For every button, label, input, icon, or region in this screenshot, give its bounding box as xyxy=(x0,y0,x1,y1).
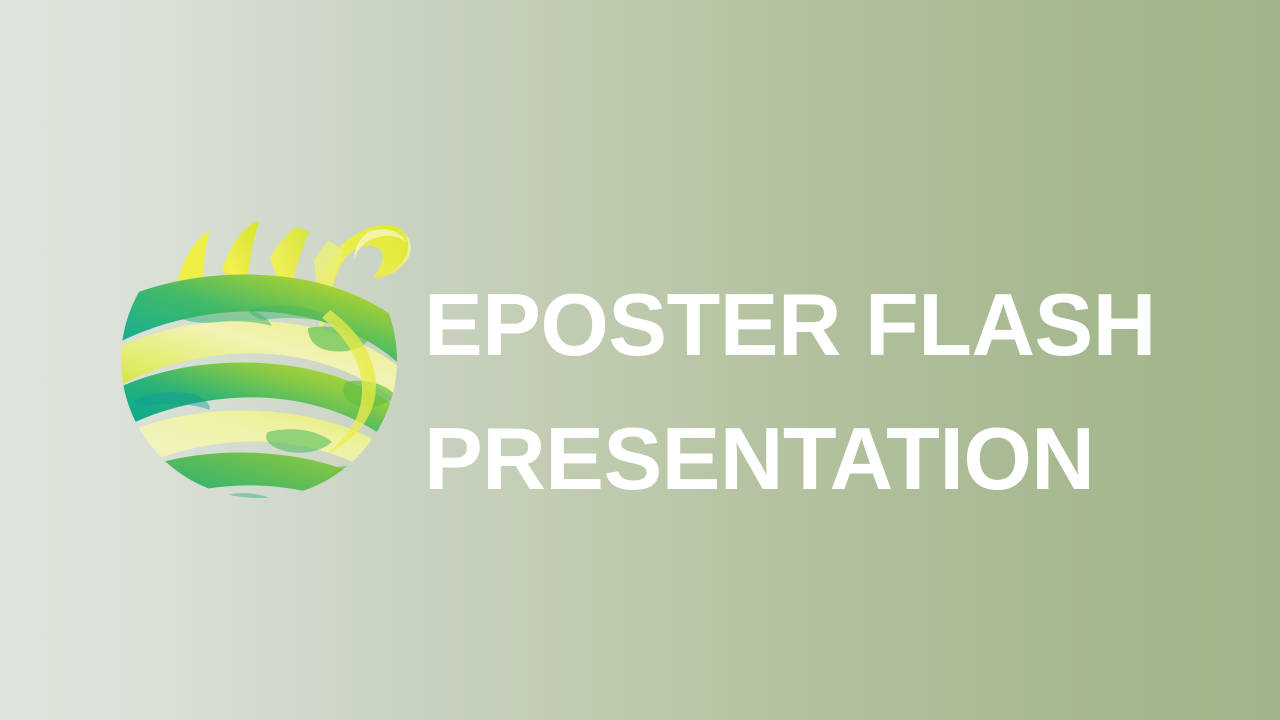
presentation-slide: EPOSTER FLASH PRESENTATION xyxy=(0,0,1280,720)
title-line-2: PRESENTATION xyxy=(424,392,1224,526)
globe-ribbon-logo xyxy=(118,200,410,520)
title-line-1: EPOSTER FLASH xyxy=(424,258,1224,392)
globe-logo-svg xyxy=(118,200,410,520)
title-block: EPOSTER FLASH PRESENTATION xyxy=(424,258,1224,526)
